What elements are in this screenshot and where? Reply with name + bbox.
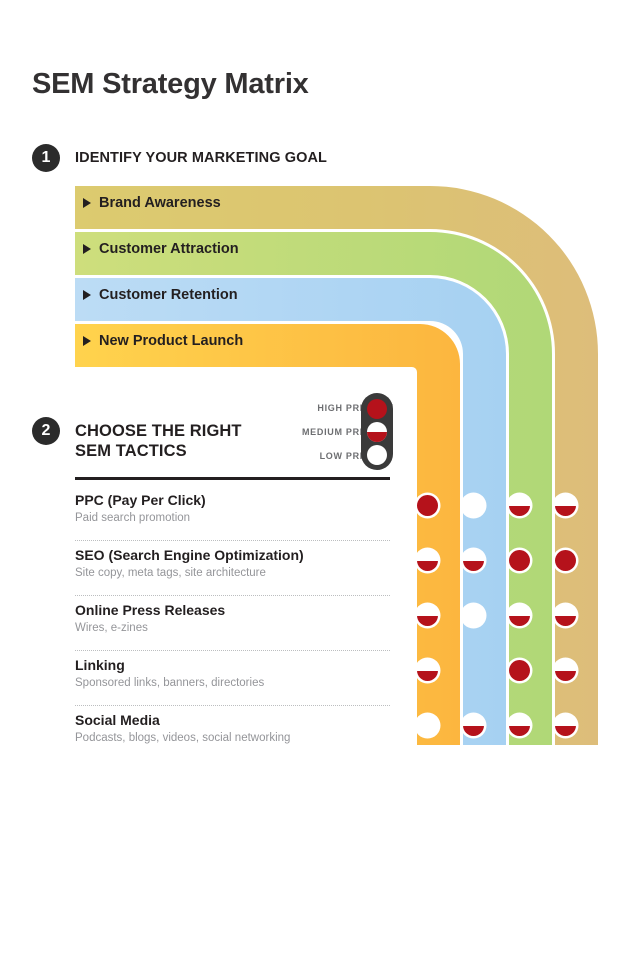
step-1-number: 1 — [42, 150, 51, 166]
goal-label-new-product-launch[interactable]: New Product Launch — [83, 326, 243, 356]
matrix-cell[interactable] — [452, 533, 495, 588]
matrix-cell[interactable] — [452, 478, 495, 533]
tactic-description: Wires, e-zines — [75, 621, 390, 637]
priority-dot-high-icon — [367, 399, 387, 419]
priority-dot-high-icon — [417, 495, 438, 516]
goal-label-customer-attraction[interactable]: Customer Attraction — [83, 234, 239, 264]
matrix-cell[interactable] — [544, 588, 587, 643]
step-1-title: IDENTIFY YOUR MARKETING GOAL — [75, 150, 327, 166]
goal-label-brand-awareness[interactable]: Brand Awareness — [83, 188, 221, 218]
step-2-title: CHOOSE THE RIGHT SEM TACTICS — [75, 421, 255, 461]
priority-dot-med-icon — [417, 550, 438, 571]
goal-label-text: Brand Awareness — [99, 195, 221, 211]
priority-dot-med-icon — [463, 550, 484, 571]
priority-dot-med-icon — [509, 605, 530, 626]
triangle-bullet-icon — [83, 290, 91, 300]
tactic-description: Sponsored links, banners, directories — [75, 676, 390, 692]
priority-dot-medium-icon — [367, 422, 387, 442]
priority-dot-high-icon — [509, 550, 530, 571]
matrix-cell[interactable] — [498, 698, 541, 753]
matrix-cell[interactable] — [406, 698, 449, 753]
tactic-row-ppc[interactable]: PPC (Pay Per Click) Paid search promotio… — [75, 486, 390, 541]
matrix-cell[interactable] — [544, 478, 587, 533]
matrix-column-new-product-launch — [406, 478, 449, 753]
tactic-description: Paid search promotion — [75, 511, 390, 527]
priority-dot-med-icon — [417, 605, 438, 626]
tactic-name: Social Media — [75, 712, 390, 730]
tactic-row-social-media[interactable]: Social Media Podcasts, blogs, videos, so… — [75, 706, 390, 761]
tactic-name: Linking — [75, 657, 390, 675]
triangle-bullet-icon — [83, 198, 91, 208]
matrix-column-customer-attraction — [498, 478, 541, 753]
tactic-description: Podcasts, blogs, videos, social networki… — [75, 731, 390, 747]
matrix-cell[interactable] — [452, 588, 495, 643]
infographic-canvas: SEM Strategy Matrix — [0, 0, 640, 960]
step-2-number: 2 — [42, 423, 51, 439]
priority-dot-med-icon — [463, 715, 484, 736]
matrix-cell[interactable] — [406, 533, 449, 588]
priority-dot-low-icon — [367, 445, 387, 465]
priority-dot-med-icon — [555, 660, 576, 681]
tactic-row-seo[interactable]: SEO (Search Engine Optimization) Site co… — [75, 541, 390, 596]
tactic-name: SEO (Search Engine Optimization) — [75, 547, 390, 565]
priority-dot-med-icon — [555, 715, 576, 736]
step-2-badge: 2 — [32, 417, 60, 445]
priority-dot-med-icon — [417, 660, 438, 681]
matrix-cell[interactable] — [452, 643, 495, 698]
matrix-cell[interactable] — [498, 533, 541, 588]
triangle-bullet-icon — [83, 336, 91, 346]
priority-dot-med-icon — [509, 715, 530, 736]
goal-label-customer-retention[interactable]: Customer Retention — [83, 280, 238, 310]
matrix-cell[interactable] — [544, 643, 587, 698]
section-divider — [75, 477, 390, 480]
priority-dot-high-icon — [509, 660, 530, 681]
goal-label-text: New Product Launch — [99, 333, 243, 349]
tactic-row-online-press-releases[interactable]: Online Press Releases Wires, e-zines — [75, 596, 390, 651]
goal-label-text: Customer Retention — [99, 287, 238, 303]
priority-dot-low-icon — [463, 495, 484, 516]
triangle-bullet-icon — [83, 244, 91, 254]
step-1-badge: 1 — [32, 144, 60, 172]
tactic-name: PPC (Pay Per Click) — [75, 492, 390, 510]
matrix-cell[interactable] — [498, 478, 541, 533]
matrix-cell[interactable] — [452, 698, 495, 753]
tactics-list: PPC (Pay Per Click) Paid search promotio… — [75, 486, 390, 761]
priority-dot-med-icon — [555, 495, 576, 516]
matrix-cell[interactable] — [544, 533, 587, 588]
tactic-description: Site copy, meta tags, site architecture — [75, 566, 390, 582]
matrix-cell[interactable] — [498, 643, 541, 698]
priority-dot-med-icon — [555, 605, 576, 626]
traffic-light-icon — [361, 393, 393, 470]
tactic-row-linking[interactable]: Linking Sponsored links, banners, direct… — [75, 651, 390, 706]
matrix-cell[interactable] — [406, 478, 449, 533]
matrix-column-customer-retention — [452, 478, 495, 753]
tactic-name: Online Press Releases — [75, 602, 390, 620]
matrix-cell[interactable] — [406, 643, 449, 698]
priority-dot-med-icon — [509, 495, 530, 516]
priority-dot-high-icon — [555, 550, 576, 571]
matrix-cell[interactable] — [498, 588, 541, 643]
matrix-column-brand-awareness — [544, 478, 587, 753]
priority-dot-low-icon — [417, 715, 438, 736]
matrix-cell[interactable] — [544, 698, 587, 753]
goal-label-text: Customer Attraction — [99, 241, 239, 257]
priority-dot-low-icon — [463, 605, 484, 626]
matrix-cell[interactable] — [406, 588, 449, 643]
